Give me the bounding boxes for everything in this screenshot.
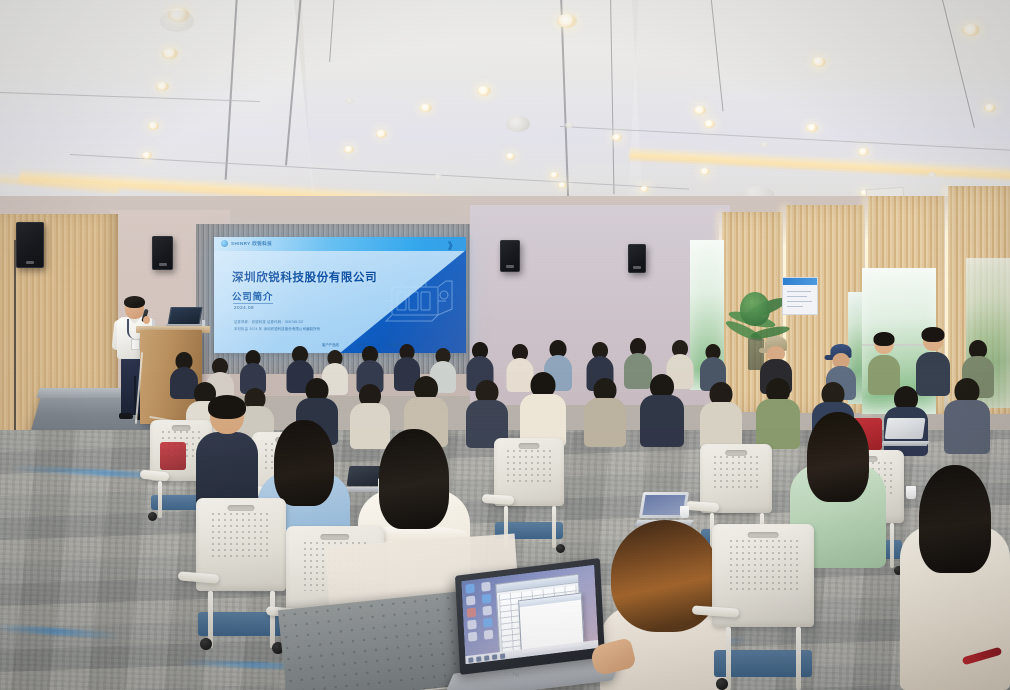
wall-speaker	[628, 244, 646, 273]
ceiling-downlight	[558, 182, 567, 188]
company-logo: SHINRY 欣锐科技	[221, 240, 272, 247]
ceiling-downlight	[700, 168, 710, 175]
slide-corner-mark-icon: 》	[448, 239, 457, 252]
ceiling-downlight	[376, 130, 387, 138]
desktop-icon[interactable]	[482, 594, 491, 604]
ceiling-downlight	[148, 122, 159, 130]
logo-wordmark: SHINRY 欣锐科技	[231, 241, 272, 247]
desktop-icon[interactable]	[465, 584, 474, 594]
training-chair[interactable]	[494, 438, 564, 548]
ceiling-downlight	[477, 86, 491, 96]
laptop-lid	[455, 558, 605, 675]
chair-caster	[716, 678, 728, 690]
slide-subtitle: 公司简介	[232, 289, 273, 303]
desktop-icon-grid[interactable]	[465, 581, 496, 641]
ceiling-downlight	[640, 186, 649, 192]
red-bag	[160, 442, 186, 470]
ceiling-speaker	[506, 116, 530, 132]
ceiling-downlight	[858, 148, 869, 156]
taskbar-icon[interactable]	[500, 653, 505, 659]
slide-date: 2024.08	[234, 305, 254, 310]
ceiling-downlight	[557, 14, 577, 28]
ceiling-downlight	[962, 24, 980, 36]
audience-member	[700, 382, 742, 448]
training-chair[interactable]	[196, 498, 286, 648]
wall-speaker	[16, 222, 44, 268]
ceiling-downlight	[162, 48, 178, 59]
sign-header-bar	[783, 278, 817, 285]
slide-footnote-securities: 证券简称：欣锐科技 证券代码：300745.SZ	[234, 319, 303, 324]
ceiling-downlight	[506, 153, 515, 160]
presenter-hair	[124, 296, 145, 308]
desktop-icon[interactable]	[467, 620, 476, 630]
audience-member	[584, 378, 626, 446]
audience-member	[868, 334, 900, 394]
ceiling-downlight	[612, 134, 622, 141]
chair-caster	[148, 512, 157, 521]
laptop-bezel	[461, 565, 598, 664]
ceiling-downlight	[806, 124, 818, 132]
ceiling-downlight	[565, 122, 574, 128]
taskbar-icon[interactable]	[468, 657, 473, 663]
projection-screen: SHINRY 欣锐科技 》 深圳欣锐科技股份有限公司 公司简介	[214, 237, 466, 353]
logo-mark-icon	[221, 240, 228, 247]
taskbar-icon[interactable]	[476, 656, 481, 662]
ceiling-downlight	[434, 174, 442, 180]
ceiling-downlight	[812, 57, 826, 67]
ceiling-downlight	[344, 146, 354, 153]
desktop-icon[interactable]	[484, 630, 493, 640]
slide-divider	[233, 303, 273, 304]
chair-caster	[556, 544, 565, 553]
ceiling-downlight	[704, 120, 715, 128]
paper-cup	[680, 506, 689, 518]
desktop-icon[interactable]	[483, 606, 492, 616]
wall-notice-sign	[782, 277, 818, 315]
ceiling-downlight	[928, 172, 936, 178]
audience-member-foreground	[900, 470, 1010, 690]
ceiling-downlight	[694, 106, 706, 115]
ceiling-downlight	[156, 82, 169, 91]
wall-speaker	[500, 240, 520, 272]
slide-title: 深圳欣锐科技股份有限公司	[232, 269, 377, 285]
ceiling-downlight	[550, 172, 559, 178]
presenter-shoe	[119, 413, 133, 419]
agenda-item: 客户产品线	[322, 342, 339, 347]
audience-member	[520, 372, 566, 446]
audience-member	[640, 374, 684, 446]
slide-footnote-copyright: 本材料由 2024 年 深圳欣锐科技股份有限公司编制所有	[234, 326, 320, 331]
foreground-laptop[interactable]: hp	[447, 567, 622, 690]
presenter-badge	[131, 339, 140, 350]
ceiling-downlight	[760, 142, 769, 148]
ceiling-speaker	[160, 10, 194, 32]
training-chair[interactable]	[712, 524, 814, 690]
audience-member-foreground	[196, 398, 258, 506]
audience-laptop[interactable]	[882, 418, 926, 446]
ceiling-downlight	[142, 152, 152, 159]
lectern-laptop	[166, 307, 200, 327]
ceiling-downlight	[420, 104, 432, 112]
taskbar-icon[interactable]	[492, 654, 497, 660]
desktop-icon[interactable]	[467, 608, 476, 618]
desktop-icon[interactable]	[468, 632, 477, 642]
audience-member	[466, 380, 508, 446]
ceiling-downlight	[984, 104, 996, 112]
chair-caster	[200, 638, 212, 650]
wall-speaker	[152, 236, 173, 270]
presentation-slide: SHINRY 欣锐科技 》 深圳欣锐科技股份有限公司 公司简介	[214, 237, 466, 353]
laptop-brand-logo: hp	[513, 672, 520, 678]
taskbar-icon[interactable]	[484, 655, 489, 661]
desktop-icon[interactable]	[483, 618, 492, 628]
laptop-desktop-wallpaper	[461, 565, 598, 664]
ceiling-downlight	[345, 98, 354, 104]
slide-product-illustration	[384, 271, 458, 327]
conference-room-photo: SHINRY 欣锐科技 》 深圳欣锐科技股份有限公司 公司简介	[0, 0, 1010, 690]
audience-member	[944, 378, 990, 452]
desktop-icon[interactable]	[481, 582, 490, 592]
desktop-icon[interactable]	[466, 596, 475, 606]
presenter-hand	[143, 316, 150, 324]
